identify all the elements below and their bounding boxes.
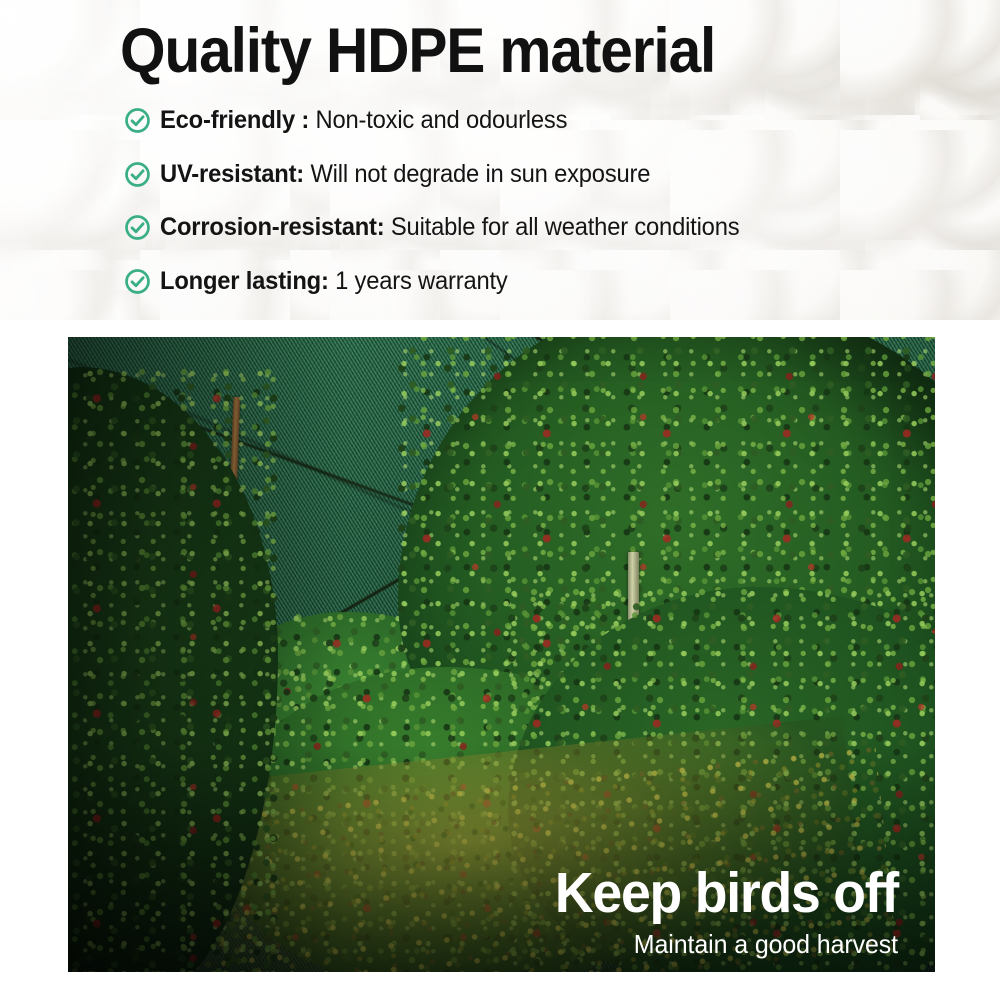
check-circle-icon xyxy=(124,268,151,295)
feature-detail: Suitable for all weather conditions xyxy=(384,213,739,241)
check-circle-icon xyxy=(124,107,151,134)
feature-label: Corrosion-resistant: xyxy=(160,213,384,241)
feature-label: Eco-friendly : xyxy=(160,106,309,134)
feature-text: UV-resistant: Will not degrade in sun ex… xyxy=(160,160,650,189)
feature-list: Eco-friendly : Non-toxic and odourless U… xyxy=(124,94,770,308)
feature-detail: Will not degrade in sun exposure xyxy=(304,160,650,188)
orchard-photo-panel: Keep birds off Maintain a good harvest xyxy=(68,337,935,972)
list-item: UV-resistant: Will not degrade in sun ex… xyxy=(124,148,770,202)
hdpe-material-panel: Quality HDPE material Eco-friendly : Non… xyxy=(0,0,1000,320)
list-item: Eco-friendly : Non-toxic and odourless xyxy=(124,94,770,148)
page-title: Quality HDPE material xyxy=(120,18,715,84)
caption-headline: Keep birds off xyxy=(555,865,898,922)
list-item: Corrosion-resistant: Suitable for all we… xyxy=(124,201,770,255)
check-circle-icon xyxy=(124,161,151,188)
caption-subheadline: Maintain a good harvest xyxy=(548,931,898,957)
check-circle-icon xyxy=(124,214,151,241)
feature-text: Corrosion-resistant: Suitable for all we… xyxy=(160,213,739,242)
feature-detail: Non-toxic and odourless xyxy=(309,106,567,134)
photo-caption-block: Keep birds off Maintain a good harvest xyxy=(533,865,898,957)
top-panel-content: Quality HDPE material Eco-friendly : Non… xyxy=(0,0,1000,320)
feature-detail: 1 years warranty xyxy=(329,267,508,295)
feature-text: Eco-friendly : Non-toxic and odourless xyxy=(160,106,567,135)
feature-label: Longer lasting: xyxy=(160,267,329,295)
feature-label: UV-resistant: xyxy=(160,160,304,188)
product-feature-graphic: Quality HDPE material Eco-friendly : Non… xyxy=(0,0,1000,1000)
feature-text: Longer lasting: 1 years warranty xyxy=(160,267,508,296)
list-item: Longer lasting: 1 years warranty xyxy=(124,255,770,309)
